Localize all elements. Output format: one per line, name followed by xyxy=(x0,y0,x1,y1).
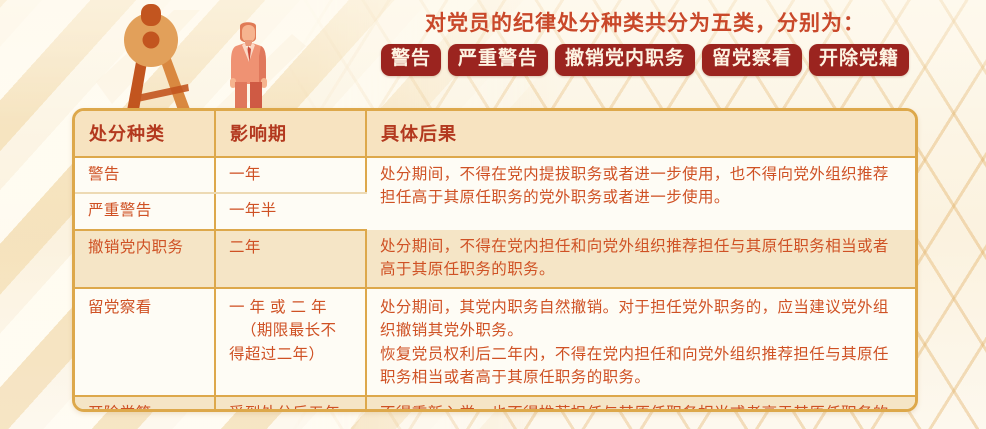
cell-term: 受到处分后五年 xyxy=(215,396,366,412)
consequence-paragraph-1: 处分期间，其党内职务自然撤销。对于担任党外职务的，应当建议党外组织撤销其党外职务… xyxy=(380,296,902,343)
discipline-table: 处分种类 影响期 具体后果 警告 一年 处分期间，不得在党内提拔职务或者进一步使… xyxy=(75,111,915,412)
table-header-row: 处分种类 影响期 具体后果 xyxy=(75,111,915,157)
table-body: 警告 一年 处分期间，不得在党内提拔职务或者进一步使用，也不得向党外组织推荐担任… xyxy=(75,157,915,412)
header: 对党员的纪律处分种类共分为五类，分别为： 警告 严重警告 撤销党内职务 留党察看… xyxy=(320,10,970,76)
badge-remove-party-post[interactable]: 撤销党内职务 xyxy=(555,44,695,76)
cell-consequence: 不得重新入党，也不得推荐担任与其原任职务相当或者高于其原任职务的党外职务。 xyxy=(366,396,915,412)
term-line-2: （期限最长不 xyxy=(229,319,352,342)
term-line-3: 得超过二年） xyxy=(229,343,352,366)
cell-kind: 警告 xyxy=(75,157,215,193)
punishment-badge-list: 警告 严重警告 撤销党内职务 留党察看 开除党籍 xyxy=(320,44,970,76)
cell-term: 一年半 xyxy=(215,193,366,229)
term-line-1: 一年或二年 xyxy=(229,299,332,316)
badge-serious-warning[interactable]: 严重警告 xyxy=(448,44,548,76)
cell-term: 一年 xyxy=(215,157,366,193)
cell-kind: 撤销党内职务 xyxy=(75,230,215,289)
illustration-group xyxy=(96,4,306,124)
discipline-table-container: 处分种类 影响期 具体后果 警告 一年 处分期间，不得在党内提拔职务或者进一步使… xyxy=(72,108,918,412)
cell-term: 一年或二年 （期限最长不 得超过二年） xyxy=(215,288,366,396)
cell-kind: 留党察看 xyxy=(75,288,215,396)
cell-kind: 开除党籍 xyxy=(75,396,215,412)
table-row: 留党察看 一年或二年 （期限最长不 得超过二年） 处分期间，其党内职务自然撤销。… xyxy=(75,288,915,396)
column-header-term: 影响期 xyxy=(215,111,366,157)
column-header-consequence: 具体后果 xyxy=(366,111,915,157)
table-row: 警告 一年 处分期间，不得在党内提拔职务或者进一步使用，也不得向党外组织推荐担任… xyxy=(75,157,915,193)
consequence-paragraph-2: 恢复党员权利后二年内，不得在党内担任和向党外组织推荐担任与其原任职务相当或者高于… xyxy=(380,343,902,390)
badge-expulsion[interactable]: 开除党籍 xyxy=(809,44,909,76)
cell-term: 二年 xyxy=(215,230,366,289)
table-header: 处分种类 影响期 具体后果 xyxy=(75,111,915,157)
table-row: 撤销党内职务 二年 处分期间，不得在党内担任和向党外组织推荐担任与其原任职务相当… xyxy=(75,230,915,289)
cell-consequence: 处分期间，其党内职务自然撤销。对于担任党外职务的，应当建议党外组织撤销其党外职务… xyxy=(366,288,915,396)
infographic-canvas: 对党员的纪律处分种类共分为五类，分别为： 警告 严重警告 撤销党内职务 留党察看… xyxy=(0,0,986,429)
page-title: 对党员的纪律处分种类共分为五类，分别为： xyxy=(320,10,970,37)
badge-warning[interactable]: 警告 xyxy=(381,44,441,76)
cell-consequence: 处分期间，不得在党内提拔职务或者进一步使用，也不得向党外组织推荐担任高于其原任职… xyxy=(366,157,915,230)
table-row: 开除党籍 受到处分后五年 不得重新入党，也不得推荐担任与其原任职务相当或者高于其… xyxy=(75,396,915,412)
cell-consequence: 处分期间，不得在党内担任和向党外组织推荐担任与其原任职务相当或者高于其原任职务的… xyxy=(366,230,915,289)
badge-probation[interactable]: 留党察看 xyxy=(702,44,802,76)
cell-kind: 严重警告 xyxy=(75,193,215,229)
column-header-kind: 处分种类 xyxy=(75,111,215,157)
